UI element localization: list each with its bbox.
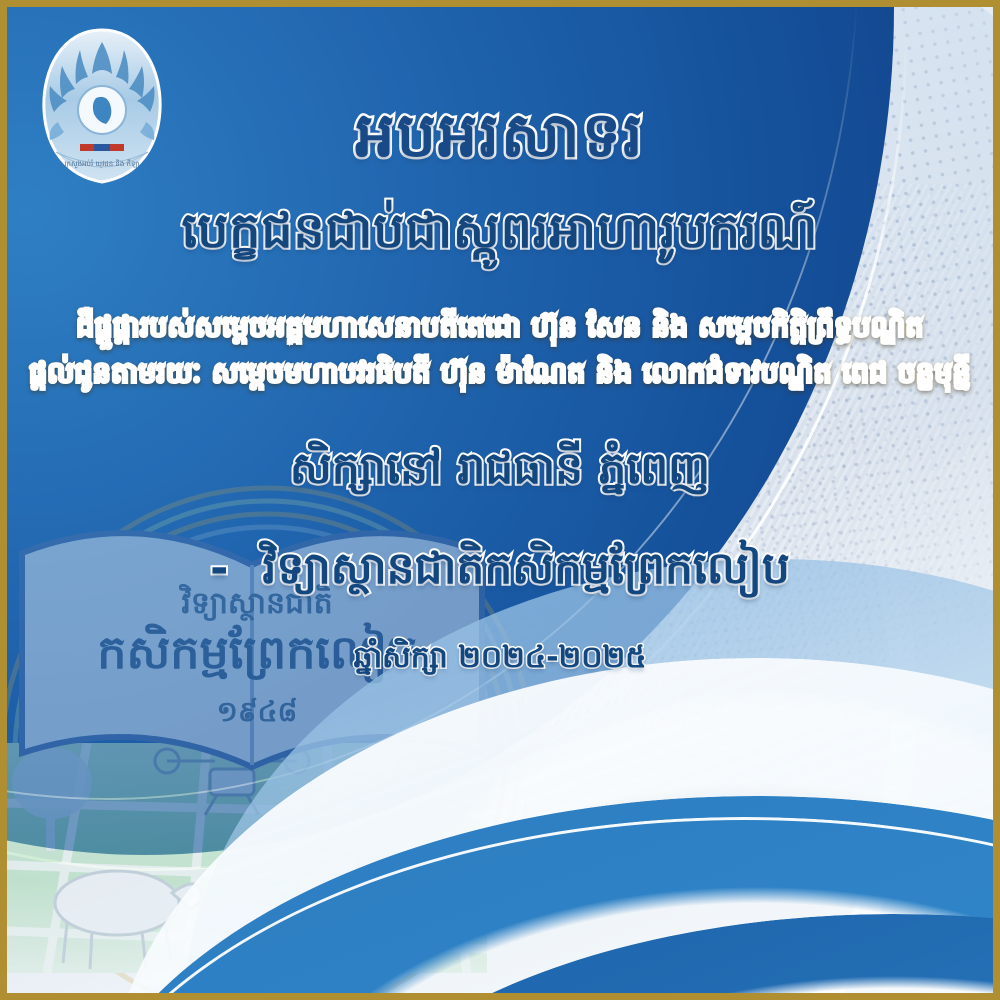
poster-canvas: វិទ្យាស្ថានជាតិ កសិកម្មព្រែកលៀប ១៩៤៨ [7,7,993,993]
credit-line-2: ផ្តល់ជូនតាមរយៈ សម្តេចមហាបវរធិបតី ហ៊ុន ម៉… [7,357,993,389]
text-block: អបអរសាទរ បេក្ខជនជាប់ជាស្កូពរអាហារូបករណ៍ … [7,7,993,993]
page-title: អបអរសាទរ [7,99,993,170]
institute-line-row: -វិទ្យាស្ថានជាតិកសិកម្មព្រែកលៀប [7,544,993,595]
institute-dash: - [210,543,228,594]
institute-name: វិទ្យាស្ថានជាតិកសិកម្មព្រែកលៀប [262,543,789,594]
banner-poster: វិទ្យាស្ថានជាតិ កសិកម្មព្រែកលៀប ១៩៤៨ [0,0,1000,1000]
page-subtitle: បេក្ខជនជាប់ជាស្កូពរអាហារូបករណ៍ [7,203,993,259]
study-location-line: សិក្សានៅ រាជធានី ភ្នំពេញ [7,444,993,495]
academic-year-line: ឆ្នាំសិក្សា ២០២៤-២០២៥ [7,641,993,676]
credit-line-1: ដឺផ្តួផ្តារបស់សម្តេចអគ្គមហាសេនាបតីតេជោ ហ… [7,311,993,343]
